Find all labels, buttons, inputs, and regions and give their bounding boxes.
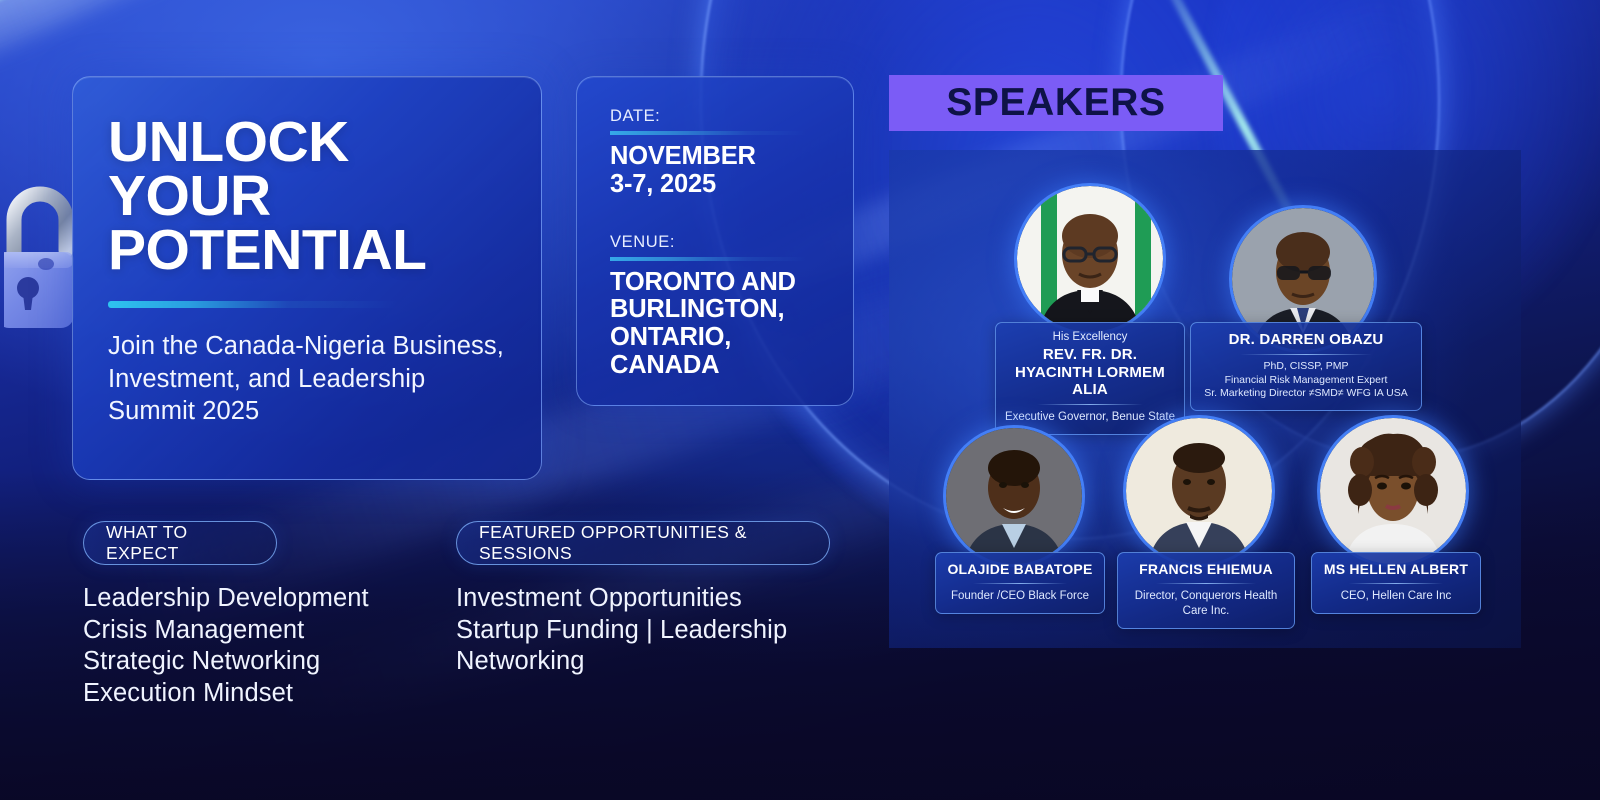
speaker-nameplate: His Excellency REV. FR. DR. HYACINTH LOR… [995, 322, 1185, 435]
date-venue-card: DATE: NOVEMBER 3-7, 2025 VENUE: TORONTO … [576, 76, 854, 406]
nameplate-divider [1156, 583, 1255, 584]
speaker-nameplate: MS HELLEN ALBERT CEO, Hellen Care Inc [1311, 552, 1481, 614]
venue-value: TORONTO AND BURLINGTON, ONTARIO, CANADA [610, 269, 827, 380]
speaker-avatar [946, 428, 1082, 564]
date-accent-rule [610, 131, 806, 135]
speaker-role: CEO, Hellen Care Inc [1320, 589, 1472, 604]
speaker-role: Executive Governor, Benue State [1004, 410, 1176, 425]
speaker-avatar [1017, 186, 1163, 332]
speaker-name: OLAJIDE BABATOPE [944, 561, 1096, 578]
hero-card: UNLOCK YOUR POTENTIAL Join the Canada-Ni… [72, 76, 542, 480]
nameplate-divider [973, 583, 1067, 584]
speaker-nameplate: DR. DARREN OBAZU PhD, CISSP, PMP Financi… [1190, 322, 1422, 411]
hero-subtitle: Join the Canada-Nigeria Business, Invest… [108, 330, 507, 427]
speaker-nameplate: FRANCIS EHIEMUA Director, Conquerors Hea… [1117, 552, 1295, 629]
speakers-panel: His Excellency REV. FR. DR. HYACINTH LOR… [889, 150, 1521, 648]
poster-stage: UNLOCK YOUR POTENTIAL Join the Canada-Ni… [0, 0, 1600, 800]
speaker-role: PhD, CISSP, PMP Financial Risk Managemen… [1199, 360, 1413, 401]
nameplate-divider [1349, 583, 1443, 584]
speaker-nameplate: OLAJIDE BABATOPE Founder /CEO Black Forc… [935, 552, 1105, 614]
speakers-badge-label: SPEAKERS [946, 81, 1165, 125]
date-label: DATE: [610, 107, 827, 126]
what-to-expect-label: WHAT TO EXPECT [106, 522, 254, 564]
featured-opportunities-list: Investment Opportunities Startup Funding… [456, 583, 856, 678]
background-streak-teal-1 [0, 0, 932, 51]
speaker-role: Founder /CEO Black Force [944, 589, 1096, 604]
date-value: NOVEMBER 3-7, 2025 [610, 143, 827, 199]
hero-accent-rule [108, 301, 398, 308]
nameplate-divider [1240, 354, 1373, 355]
speakers-badge: SPEAKERS [889, 75, 1223, 131]
featured-opportunities-label: FEATURED OPPORTUNITIES & SESSIONS [479, 522, 807, 564]
speaker-avatar [1320, 418, 1466, 564]
featured-opportunities-pill[interactable]: FEATURED OPPORTUNITIES & SESSIONS [456, 521, 830, 565]
venue-label: VENUE: [610, 233, 827, 252]
what-to-expect-list: Leadership Development Crisis Management… [83, 583, 443, 710]
speaker-name: REV. FR. DR. HYACINTH LORMEM ALIA [1004, 346, 1176, 399]
spacer [610, 199, 827, 233]
speaker-prefix: His Excellency [1004, 330, 1176, 345]
page-title: UNLOCK YOUR POTENTIAL [108, 115, 507, 277]
nameplate-divider [1037, 404, 1144, 405]
speaker-name: FRANCIS EHIEMUA [1126, 561, 1286, 578]
speaker-name: MS HELLEN ALBERT [1320, 561, 1472, 578]
speaker-avatar [1126, 418, 1272, 564]
what-to-expect-pill[interactable]: WHAT TO EXPECT [83, 521, 277, 565]
speaker-role: Director, Conquerors Health Care Inc. [1126, 589, 1286, 619]
speaker-name: DR. DARREN OBAZU [1199, 331, 1413, 349]
venue-accent-rule [610, 257, 806, 261]
